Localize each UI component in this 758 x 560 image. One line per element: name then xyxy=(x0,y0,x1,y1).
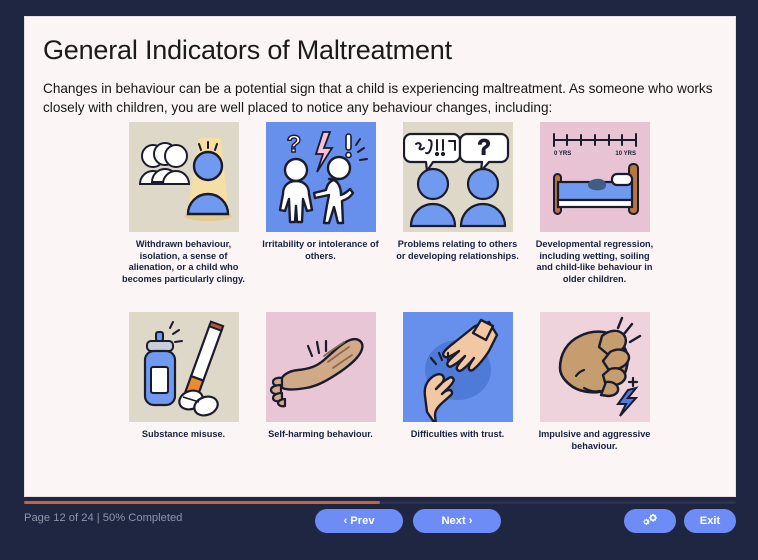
indicator-caption: Irritability or intolerance of others. xyxy=(258,239,384,262)
slide-panel: General Indicators of Maltreatment Chang… xyxy=(24,16,736,497)
indicator-caption: Self-harming behaviour. xyxy=(258,429,384,441)
page-status-text: Page 12 of 24 | 50% Completed xyxy=(24,512,182,524)
indicator-card-substance: Substance misuse. xyxy=(115,312,252,472)
indicator-card-selfharm: Self-harming behaviour. xyxy=(252,312,389,472)
speech-bubbles-miscommunication-icon: ? xyxy=(403,122,513,232)
bed-wetting-ruler-icon: 0 YRS 10 YRS xyxy=(540,122,650,232)
two-figures-conflict-icon: ? xyxy=(266,122,376,232)
indicator-grid: Withdrawn behaviour, isolation, a sense … xyxy=(115,122,665,472)
progress-bar-fill xyxy=(24,501,380,504)
course-player-window: General Indicators of Maltreatment Chang… xyxy=(0,0,758,560)
indicator-row-2: Substance misuse. xyxy=(115,312,665,472)
progress-bar-track xyxy=(24,501,736,504)
indicator-row-1: Withdrawn behaviour, isolation, a sense … xyxy=(115,122,665,312)
isolated-child-spotlight-icon xyxy=(129,122,239,232)
indicator-caption: Substance misuse. xyxy=(121,429,247,441)
indicator-caption: Problems relating to others or developin… xyxy=(395,239,521,262)
svg-text:?: ? xyxy=(286,131,301,158)
intro-paragraph: Changes in behaviour can be a potential … xyxy=(43,79,723,117)
page-title: General Indicators of Maltreatment xyxy=(43,35,452,66)
indicator-card-aggression: Impulsive and aggressive behaviour. xyxy=(526,312,663,472)
indicator-caption: Impulsive and aggressive behaviour. xyxy=(532,429,658,452)
svg-text:?: ? xyxy=(478,136,490,159)
clenched-fist-icon xyxy=(540,312,650,422)
indicator-caption: Developmental regression, including wett… xyxy=(532,239,658,285)
ruler-left-label: 0 YRS xyxy=(554,151,571,157)
indicator-card-irritability: ? xyxy=(252,122,389,312)
indicator-card-regression: 0 YRS 10 YRS Developmental regression, i… xyxy=(526,122,663,312)
indicator-card-trust: Difficulties with trust. xyxy=(389,312,526,472)
prev-button[interactable]: ‹ Prev xyxy=(315,509,403,533)
gears-icon xyxy=(642,512,659,530)
reaching-hands-icon xyxy=(403,312,513,422)
next-button[interactable]: Next › xyxy=(413,509,501,533)
navigation-buttons: ‹ Prev Next › xyxy=(315,509,501,533)
indicator-caption: Withdrawn behaviour, isolation, a sense … xyxy=(121,239,247,285)
exit-button[interactable]: Exit xyxy=(684,509,736,533)
ruler-right-label: 10 YRS xyxy=(615,151,636,157)
utility-buttons: Exit xyxy=(624,509,736,533)
settings-button[interactable] xyxy=(624,509,676,533)
scarred-arm-icon xyxy=(266,312,376,422)
indicator-card-relationships: ? Problems relating to others or develop… xyxy=(389,122,526,312)
aerosol-cigarette-pills-icon xyxy=(129,312,239,422)
indicator-caption: Difficulties with trust. xyxy=(395,429,521,441)
indicator-card-withdrawn: Withdrawn behaviour, isolation, a sense … xyxy=(115,122,252,312)
